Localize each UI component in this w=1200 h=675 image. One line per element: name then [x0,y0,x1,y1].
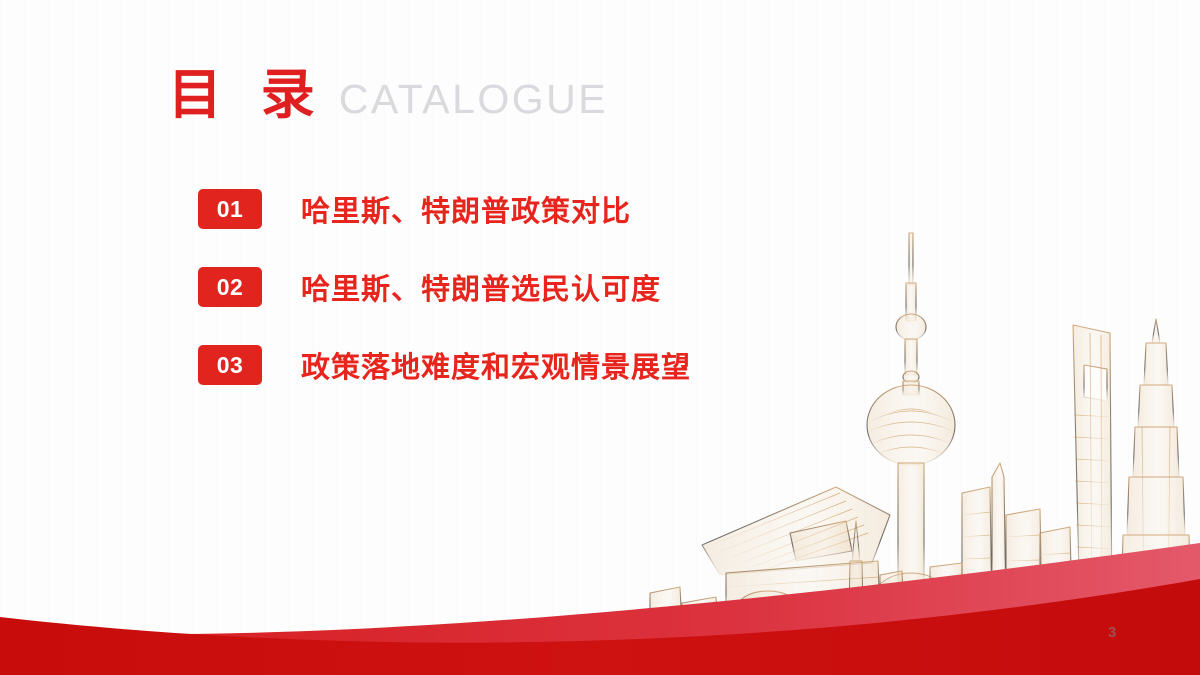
toc-item-01[interactable]: 01 哈里斯、特朗普政策对比 [198,188,691,230]
page-number: 3 [1108,624,1116,641]
oriental-pearl-tower [867,233,955,635]
table-of-contents: 01 哈里斯、特朗普政策对比 02 哈里斯、特朗普选民认可度 03 政策落地难度… [198,188,691,386]
exhibition-pavilion [702,487,890,615]
foreground-low-rise [650,563,962,627]
toc-item-02[interactable]: 02 哈里斯、特朗普选民认可度 [198,266,691,308]
page-title-cn: 目 录 [168,68,325,122]
toc-number-badge: 03 [198,345,262,385]
toc-number-badge: 01 [198,189,262,229]
wave-light [0,543,1200,675]
jin-mao-tower [1121,319,1191,615]
toc-number-badge: 02 [198,267,262,307]
shanghai-skyline-illustration [640,215,1200,635]
wave-deep [0,579,1200,675]
page-title-en: CATALOGUE [339,79,608,120]
bottom-red-wave [0,505,1200,675]
toc-item-label[interactable]: 政策落地难度和宏观情景展望 [301,344,691,386]
toc-item-label[interactable]: 哈里斯、特朗普选民认可度 [301,266,661,308]
page-title: 目 录 CATALOGUE [168,68,608,122]
shanghai-world-financial-center [1073,325,1112,615]
toc-item-03[interactable]: 03 政策落地难度和宏观情景展望 [198,344,691,386]
distant-towers [849,521,863,615]
midrise-buildings [962,463,1072,615]
toc-item-label[interactable]: 哈里斯、特朗普政策对比 [301,188,631,230]
slide-root: 目 录 CATALOGUE 01 哈里斯、特朗普政策对比 02 哈里斯、特朗普选… [0,0,1200,675]
